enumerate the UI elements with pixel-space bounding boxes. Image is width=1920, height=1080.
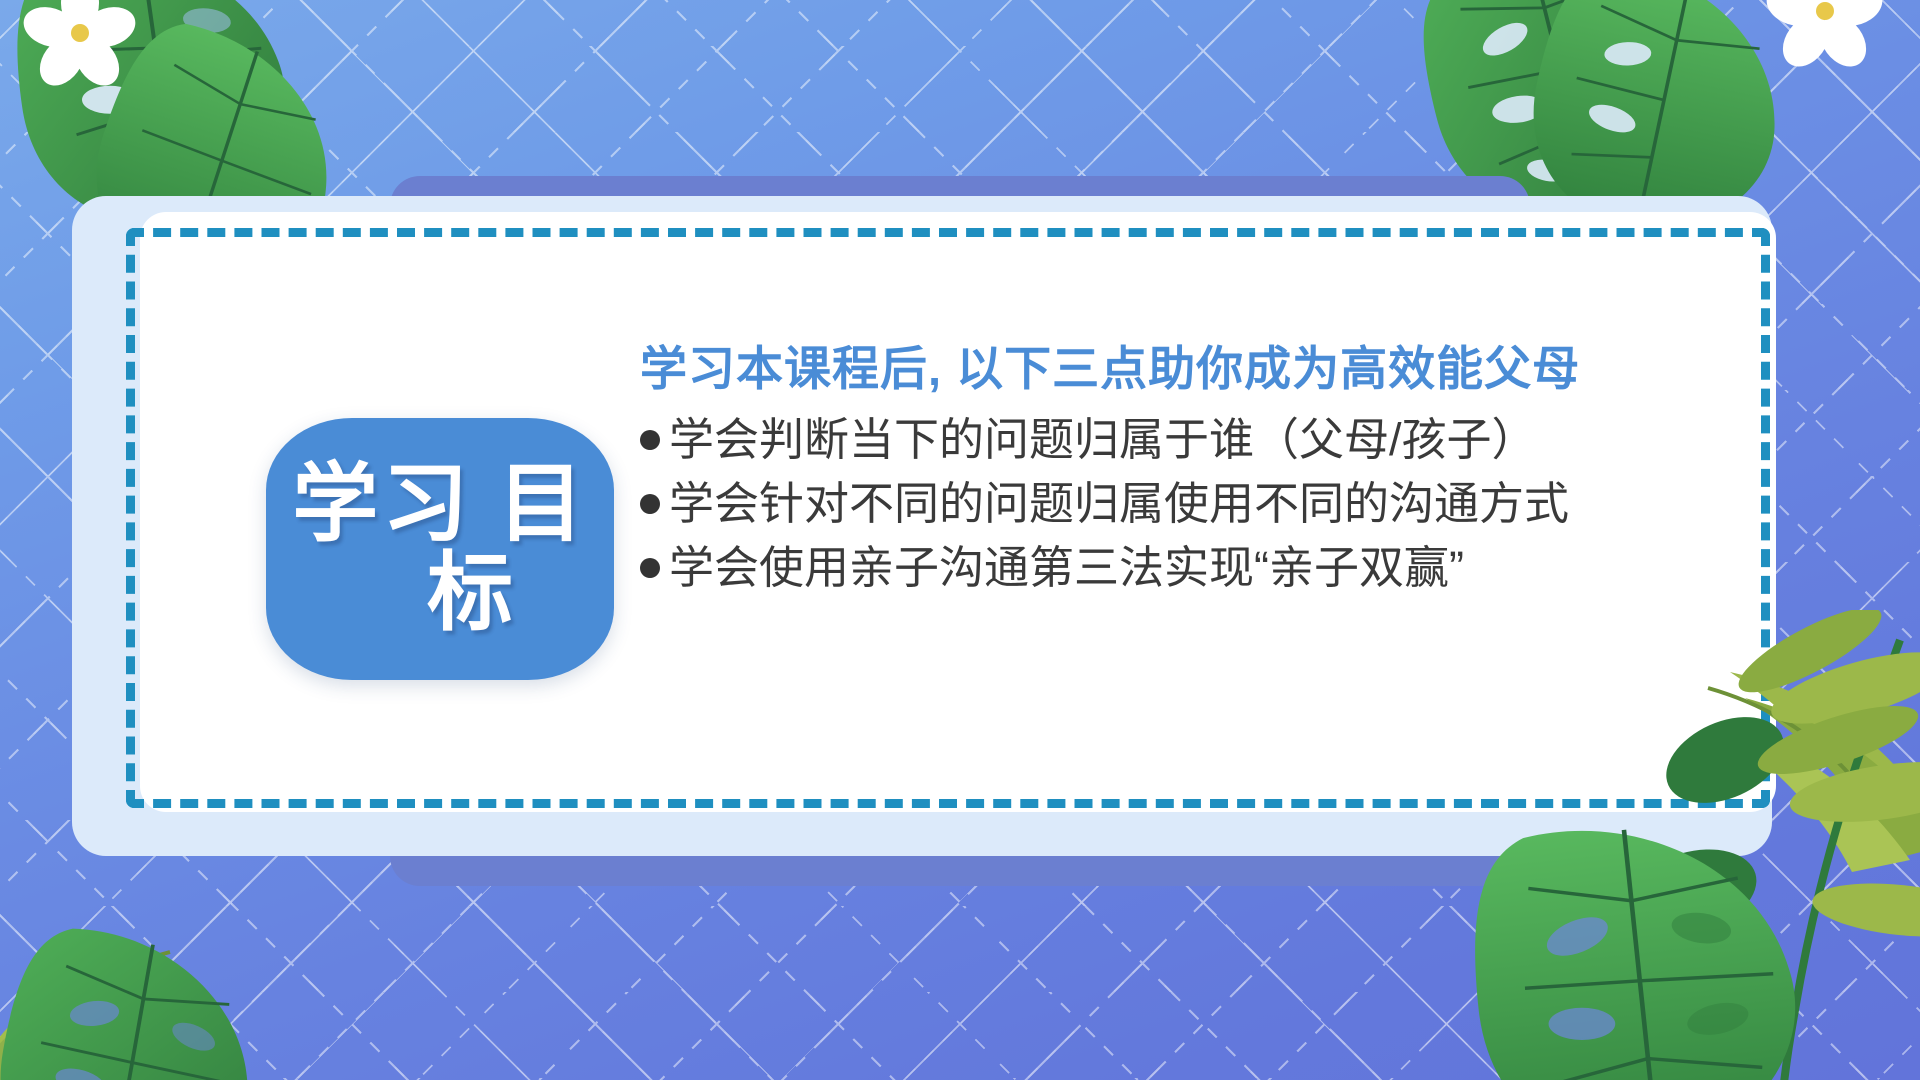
learning-objectives-badge: 学习 目 标 xyxy=(266,418,614,680)
list-item: 学会判断当下的问题归属于谁（父母/孩子） xyxy=(640,413,1750,466)
bullet-dot-icon xyxy=(640,494,660,514)
bullet-dot-icon xyxy=(640,430,660,450)
objective-text: 学会判断当下的问题归属于谁（父母/孩子） xyxy=(669,413,1537,466)
objective-text: 学会使用亲子沟通第三法实现“亲子双赢” xyxy=(669,541,1464,594)
list-item: 学会针对不同的问题归属使用不同的沟通方式 xyxy=(640,477,1750,530)
objectives-list: 学会判断当下的问题归属于谁（父母/孩子） 学会针对不同的问题归属使用不同的沟通方… xyxy=(640,413,1750,594)
badge-line-2: 标 xyxy=(427,549,517,638)
badge-text-block: 学习 目 标 xyxy=(266,418,614,680)
slide-canvas: 学习 目 标 学习本课程后, 以下三点助你成为高效能父母 学会判断当下的问题归属… xyxy=(0,0,1920,1080)
list-item: 学会使用亲子沟通第三法实现“亲子双赢” xyxy=(640,541,1750,594)
objective-text: 学会针对不同的问题归属使用不同的沟通方式 xyxy=(669,477,1569,530)
content-column: 学习本课程后, 以下三点助你成为高效能父母 学会判断当下的问题归属于谁（父母/孩… xyxy=(640,330,1750,605)
bullet-dot-icon xyxy=(640,558,660,578)
content-heading: 学习本课程后, 以下三点助你成为高效能父母 xyxy=(640,330,1750,399)
badge-line-1: 学习 目 xyxy=(292,460,588,549)
